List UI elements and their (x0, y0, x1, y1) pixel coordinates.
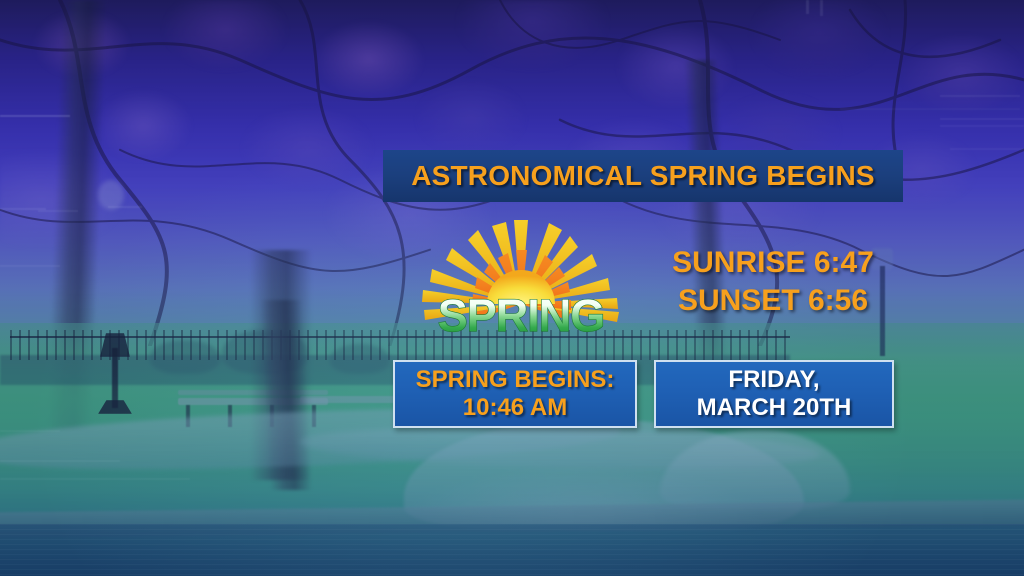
sunset-text: SUNSET 6:56 (648, 282, 898, 320)
spring-begins-date-box: FRIDAY, MARCH 20TH (654, 360, 894, 428)
sunburst-icon: SPRING (418, 212, 624, 338)
headline-bar: ASTRONOMICAL SPRING BEGINS (383, 150, 903, 202)
sun-times: SUNRISE 6:47 SUNSET 6:56 (648, 244, 898, 320)
spring-begins-date-text: FRIDAY, MARCH 20TH (697, 366, 852, 421)
sunrise-text: SUNRISE 6:47 (648, 244, 898, 282)
spring-wordmark: SPRING (438, 290, 605, 338)
broadcast-graphic: ASTRONOMICAL SPRING BEGINS (0, 0, 1024, 576)
spring-begins-time-box: SPRING BEGINS: 10:46 AM (393, 360, 637, 428)
page-title: ASTRONOMICAL SPRING BEGINS (411, 160, 875, 192)
spring-begins-time-text: SPRING BEGINS: 10:46 AM (416, 366, 615, 421)
spring-logo: SPRING (418, 212, 624, 338)
